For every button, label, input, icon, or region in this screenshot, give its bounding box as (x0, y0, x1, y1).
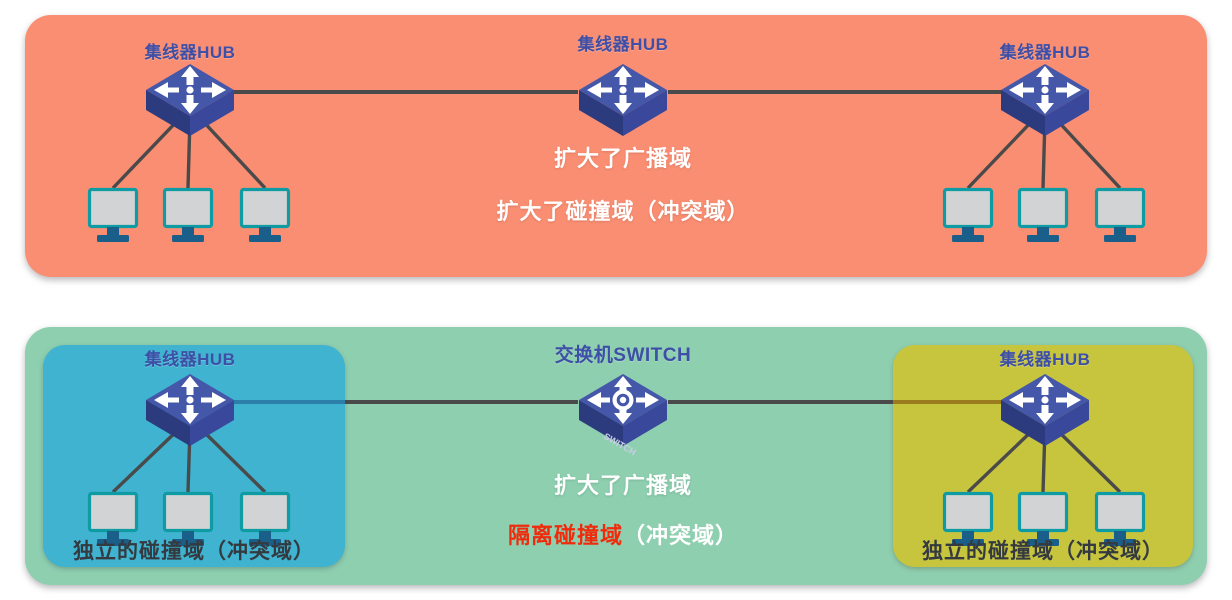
device-label-hub-left-2: 集线器HUB (145, 345, 236, 370)
note-broadcast-domain-enlarged-bottom: 扩大了广播域 (554, 468, 692, 500)
device-label-hub-left: 集线器HUB (145, 38, 236, 63)
collision-domain-box-left (43, 345, 345, 567)
note-broadcast-domain-enlarged-top: 扩大了广播域 (554, 141, 692, 173)
device-label-hub-center: 集线器HUB (578, 30, 669, 55)
note-collision-domain-enlarged-top: 扩大了碰撞域（冲突域） (496, 194, 749, 226)
collision-domain-box-right (893, 345, 1193, 567)
device-label-hub-right: 集线器HUB (1000, 38, 1091, 63)
note-collision-isolated-red: 隔离碰撞域 (508, 523, 623, 548)
device-label-switch-center: 交换机SWITCH (555, 340, 691, 367)
device-label-hub-right-2: 集线器HUB (1000, 345, 1091, 370)
caption-collision-domain-left: 独立的碰撞域（冲突域） (73, 535, 315, 565)
note-collision-isolated-white: （冲突域） (623, 523, 738, 548)
caption-collision-domain-right: 独立的碰撞域（冲突域） (922, 535, 1164, 565)
note-collision-domain-isolated-bottom: 隔离碰撞域（冲突域） (508, 518, 738, 550)
diagram-canvas: SWITCH (0, 0, 1232, 600)
